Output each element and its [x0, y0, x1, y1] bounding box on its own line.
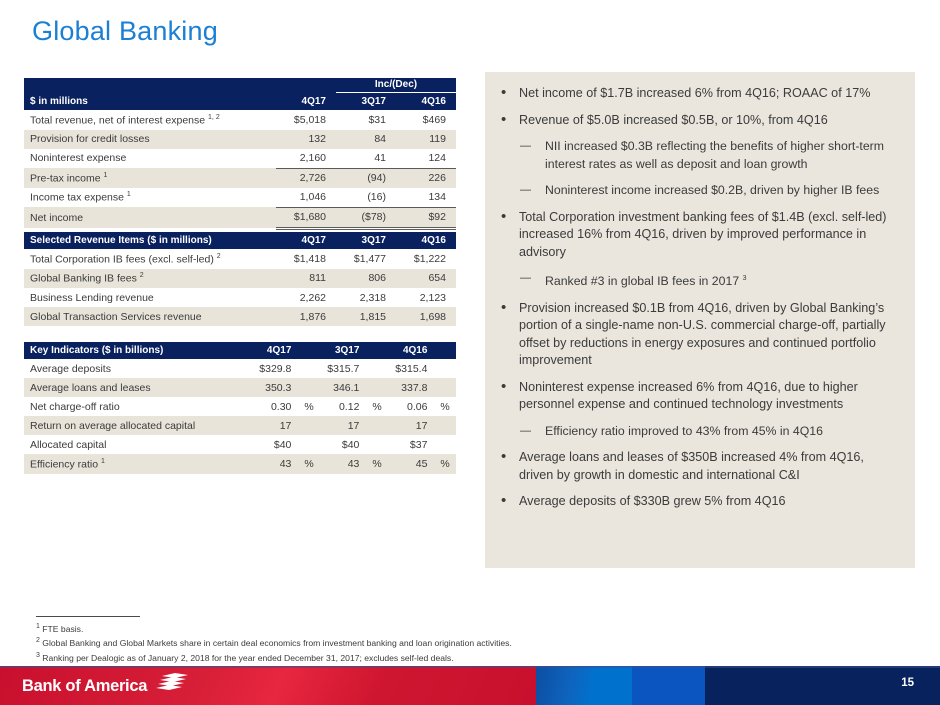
- cell-3q17: 41: [336, 149, 396, 169]
- cell-3q17: (94): [336, 168, 396, 188]
- cell-3q17: 0.12: [320, 397, 369, 416]
- highlight-bullet: Revenue of $5.0B increased $0.5B, or 10%…: [519, 112, 901, 130]
- cell-3q17: 2,318: [336, 288, 396, 307]
- highlight-bullet: Average loans and leases of $350B increa…: [519, 449, 901, 484]
- footer-medium-blue-band: [632, 666, 705, 705]
- cell-3q17: $315.7: [320, 359, 369, 378]
- footnote-marker: 1: [127, 191, 131, 198]
- unit-4q17: [301, 378, 320, 397]
- table-row: Noninterest expense2,16041124: [24, 149, 456, 169]
- unit-4q16: [437, 416, 456, 435]
- logo-text: Bank of America: [22, 677, 147, 696]
- unit-4q17: %: [301, 397, 320, 416]
- highlight-subbullet: Efficiency ratio improved to 43% from 45…: [545, 423, 901, 441]
- highlight-bullet: Provision increased $0.1B from 4Q16, dri…: [519, 300, 901, 370]
- column-header-4q17: 4Q17: [276, 232, 336, 249]
- column-header-3q17: 3Q17: [336, 93, 396, 111]
- highlight-subbullet: Ranked #3 in global IB fees in 2017 3: [545, 270, 901, 291]
- unit-4q16: %: [437, 454, 456, 474]
- row-label: Net income: [24, 207, 276, 228]
- cell-3q17: (16): [336, 188, 396, 208]
- table-row: Global Banking IB fees 2811806654: [24, 269, 456, 289]
- table-row: Income tax expense 11,046(16)134: [24, 188, 456, 208]
- cell-4q17: 1,046: [276, 188, 336, 208]
- table-row: Net income$1,680($78)$92: [24, 207, 456, 228]
- cell-4q16: 134: [396, 188, 456, 208]
- table-row: Return on average allocated capital17171…: [24, 416, 456, 435]
- table-span-header-row: Inc/(Dec): [24, 78, 456, 93]
- cell-4q16: 1,698: [396, 307, 456, 326]
- cell-3q17: 1,815: [336, 307, 396, 326]
- cell-4q17: $5,018: [276, 110, 336, 130]
- highlights-list: Net income of $1.7B increased 6% from 4Q…: [485, 72, 915, 511]
- column-header-3q17: 3Q17: [320, 342, 369, 359]
- unit-4q17: %: [301, 454, 320, 474]
- footnote-marker: 1: [104, 172, 108, 179]
- column-header-4q17: 4Q17: [276, 93, 336, 111]
- cell-4q16: 337.8: [388, 378, 437, 397]
- cell-4q16: $1,222: [396, 249, 456, 269]
- footnote-marker: 2: [140, 272, 144, 279]
- selected-revenue-items-table: Selected Revenue Items ($ in millions)4Q…: [24, 232, 456, 326]
- table-header-row: $ in millions4Q173Q174Q16: [24, 93, 456, 111]
- cell-4q17: 1,876: [276, 307, 336, 326]
- column-header-label: $ in millions: [24, 93, 276, 111]
- cell-4q17: $329.8: [252, 359, 301, 378]
- unit-4q17: [301, 416, 320, 435]
- row-label: Average loans and leases: [24, 378, 252, 397]
- cell-4q16: $469: [396, 110, 456, 130]
- column-header-label: Key Indicators ($ in billions): [24, 342, 252, 359]
- unit-3q17: [369, 359, 388, 378]
- cell-4q17: 2,726: [276, 168, 336, 188]
- highlights-panel: Net income of $1.7B increased 6% from 4Q…: [485, 72, 915, 568]
- unit-spacer: [301, 342, 320, 359]
- footnote-marker: 1: [101, 458, 105, 465]
- cell-3q17: 17: [320, 416, 369, 435]
- unit-4q17: [301, 435, 320, 454]
- cell-4q17: $40: [252, 435, 301, 454]
- cell-3q17: 346.1: [320, 378, 369, 397]
- cell-3q17: 806: [336, 269, 396, 289]
- row-label: Global Transaction Services revenue: [24, 307, 276, 326]
- unit-4q16: %: [437, 397, 456, 416]
- cell-4q16: 124: [396, 149, 456, 169]
- cell-4q16: 654: [396, 269, 456, 289]
- unit-3q17: %: [369, 454, 388, 474]
- table-header-row: Selected Revenue Items ($ in millions)4Q…: [24, 232, 456, 249]
- footnote-marker: 1, 2: [208, 114, 220, 121]
- cell-4q16: 2,123: [396, 288, 456, 307]
- highlight-bullet: Total Corporation investment banking fee…: [519, 209, 901, 262]
- footnote-item: 2 Global Banking and Global Markets shar…: [36, 635, 736, 649]
- column-header-label: Selected Revenue Items ($ in millions): [24, 232, 276, 249]
- highlight-bullet: Average deposits of $330B grew 5% from 4…: [519, 493, 901, 511]
- cell-3q17: $31: [336, 110, 396, 130]
- unit-3q17: [369, 435, 388, 454]
- footer-top-line: [0, 666, 940, 668]
- cell-4q17: $1,418: [276, 249, 336, 269]
- footnote-marker: 3: [743, 275, 747, 282]
- cell-3q17: ($78): [336, 207, 396, 228]
- row-label: Total Corporation IB fees (excl. self-le…: [24, 249, 276, 269]
- footnote-marker: 2: [217, 253, 221, 260]
- cell-3q17: $40: [320, 435, 369, 454]
- row-label: Return on average allocated capital: [24, 416, 252, 435]
- column-header-3q17: 3Q17: [336, 232, 396, 249]
- cell-4q17: 811: [276, 269, 336, 289]
- cell-3q17: 43: [320, 454, 369, 474]
- unit-4q17: [301, 359, 320, 378]
- highlight-bullet: Net income of $1.7B increased 6% from 4Q…: [519, 85, 901, 103]
- column-header-4q16: 4Q16: [396, 93, 456, 111]
- cell-3q17: $1,477: [336, 249, 396, 269]
- footnote-item: 3 Ranking per Dealogic as of January 2, …: [36, 650, 736, 664]
- cell-4q17: 43: [252, 454, 301, 474]
- table-row: Net charge-off ratio0.30%0.12%0.06%: [24, 397, 456, 416]
- footnote-marker: 2: [36, 637, 40, 644]
- row-label: Average deposits: [24, 359, 252, 378]
- column-header-4q16: 4Q16: [396, 232, 456, 249]
- income-statement-table: Inc/(Dec)$ in millions4Q173Q174Q16Total …: [24, 78, 456, 230]
- highlight-subbullet: Noninterest income increased $0.2B, driv…: [545, 182, 901, 200]
- unit-3q17: [369, 416, 388, 435]
- table-row: Total revenue, net of interest expense 1…: [24, 110, 456, 130]
- cell-4q16: $37: [388, 435, 437, 454]
- row-label: Total revenue, net of interest expense 1…: [24, 110, 276, 130]
- footnote-marker: 1: [36, 623, 40, 630]
- cell-4q17: 350.3: [252, 378, 301, 397]
- table-row: Global Transaction Services revenue1,876…: [24, 307, 456, 326]
- table-row: Average deposits$329.8$315.7$315.4: [24, 359, 456, 378]
- row-label: Noninterest expense: [24, 149, 276, 169]
- row-label: Global Banking IB fees 2: [24, 269, 276, 289]
- unit-spacer: [369, 342, 388, 359]
- cell-4q16: $92: [396, 207, 456, 228]
- bank-of-america-logo: Bank of America: [22, 674, 189, 698]
- page-number: 15: [901, 677, 914, 689]
- table-row: Allocated capital$40$40$37: [24, 435, 456, 454]
- table-row: Efficiency ratio 143%43%45%: [24, 454, 456, 474]
- unit-4q16: [437, 435, 456, 454]
- flag-icon: [155, 673, 189, 699]
- cell-4q17: $1,680: [276, 207, 336, 228]
- column-header-4q17: 4Q17: [252, 342, 301, 359]
- slide-footer: Bank of America 15: [0, 666, 940, 705]
- unit-spacer: [437, 342, 456, 359]
- unit-3q17: [369, 378, 388, 397]
- unit-3q17: %: [369, 397, 388, 416]
- cell-4q16: $315.4: [388, 359, 437, 378]
- footnote-item: 1 FTE basis.: [36, 621, 736, 635]
- row-label: Income tax expense 1: [24, 188, 276, 208]
- table-row: Pre-tax income 12,726(94)226: [24, 168, 456, 188]
- row-label: Efficiency ratio 1: [24, 454, 252, 474]
- cell-4q16: 119: [396, 130, 456, 149]
- cell-4q16: 0.06: [388, 397, 437, 416]
- spacer-cell: [24, 78, 276, 93]
- key-indicators-table: Key Indicators ($ in billions)4Q173Q174Q…: [24, 342, 456, 474]
- table-header-row: Key Indicators ($ in billions)4Q173Q174Q…: [24, 342, 456, 359]
- row-label: Business Lending revenue: [24, 288, 276, 307]
- table-row: Total Corporation IB fees (excl. self-le…: [24, 249, 456, 269]
- table-row: Business Lending revenue2,2622,3182,123: [24, 288, 456, 307]
- cell-4q17: 0.30: [252, 397, 301, 416]
- footer-light-blue-band: [536, 666, 632, 705]
- footnote-marker: 3: [36, 652, 40, 659]
- cell-4q17: 132: [276, 130, 336, 149]
- cell-4q16: 226: [396, 168, 456, 188]
- cell-4q17: 17: [252, 416, 301, 435]
- highlight-subbullet: NII increased $0.3B reflecting the benef…: [545, 138, 901, 173]
- cell-3q17: 84: [336, 130, 396, 149]
- row-label: Allocated capital: [24, 435, 252, 454]
- unit-4q16: [437, 359, 456, 378]
- page-title: Global Banking: [32, 16, 218, 47]
- unit-4q16: [437, 378, 456, 397]
- column-header-4q16: 4Q16: [388, 342, 437, 359]
- cell-4q17: 2,262: [276, 288, 336, 307]
- highlight-bullet: Noninterest expense increased 6% from 4Q…: [519, 379, 901, 414]
- spacer-cell: [276, 78, 336, 93]
- row-label: Provision for credit losses: [24, 130, 276, 149]
- cell-4q16: 45: [388, 454, 437, 474]
- cell-4q17: 2,160: [276, 149, 336, 169]
- row-label: Net charge-off ratio: [24, 397, 252, 416]
- cell-4q16: 17: [388, 416, 437, 435]
- footnotes: 1 FTE basis.2 Global Banking and Global …: [36, 616, 736, 664]
- table-row: Provision for credit losses13284119: [24, 130, 456, 149]
- row-label: Pre-tax income 1: [24, 168, 276, 188]
- table-row: Average loans and leases350.3346.1337.8: [24, 378, 456, 397]
- inc-dec-header: Inc/(Dec): [336, 78, 456, 93]
- footnote-rule: [36, 616, 140, 617]
